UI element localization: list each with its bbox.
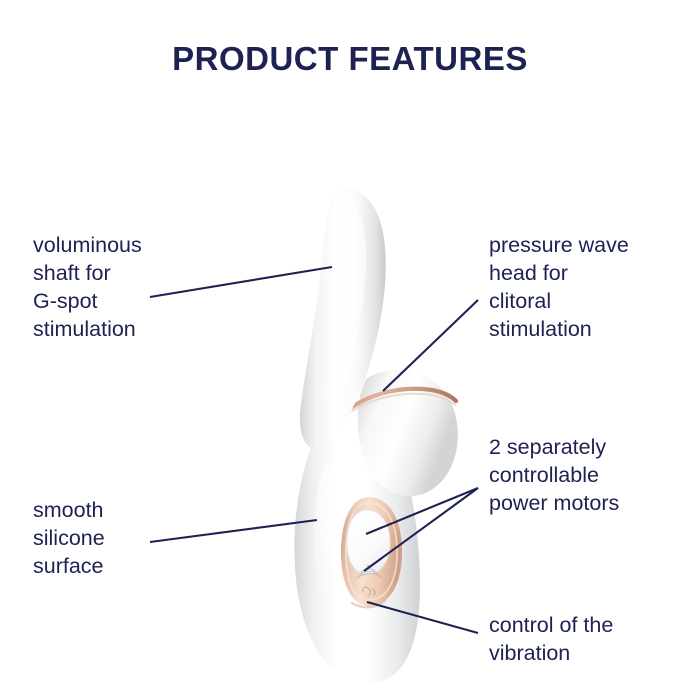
callout-pressure-wave-head: pressure wave head for clitoral stimulat… bbox=[489, 232, 694, 344]
power-button bbox=[347, 510, 390, 574]
callout-control-of-vibration: control of the vibration bbox=[489, 612, 694, 668]
callout-power-motors: 2 separately controllable power motors bbox=[489, 434, 694, 518]
product-illustration bbox=[0, 0, 700, 700]
callout-voluminous-shaft: voluminous shaft for G-spot stimulation bbox=[33, 232, 233, 344]
product-features-infographic: PRODUCT FEATURES bbox=[0, 0, 700, 700]
handle-highlight bbox=[314, 462, 346, 618]
callout-smooth-silicone: smooth silicone surface bbox=[33, 497, 233, 581]
